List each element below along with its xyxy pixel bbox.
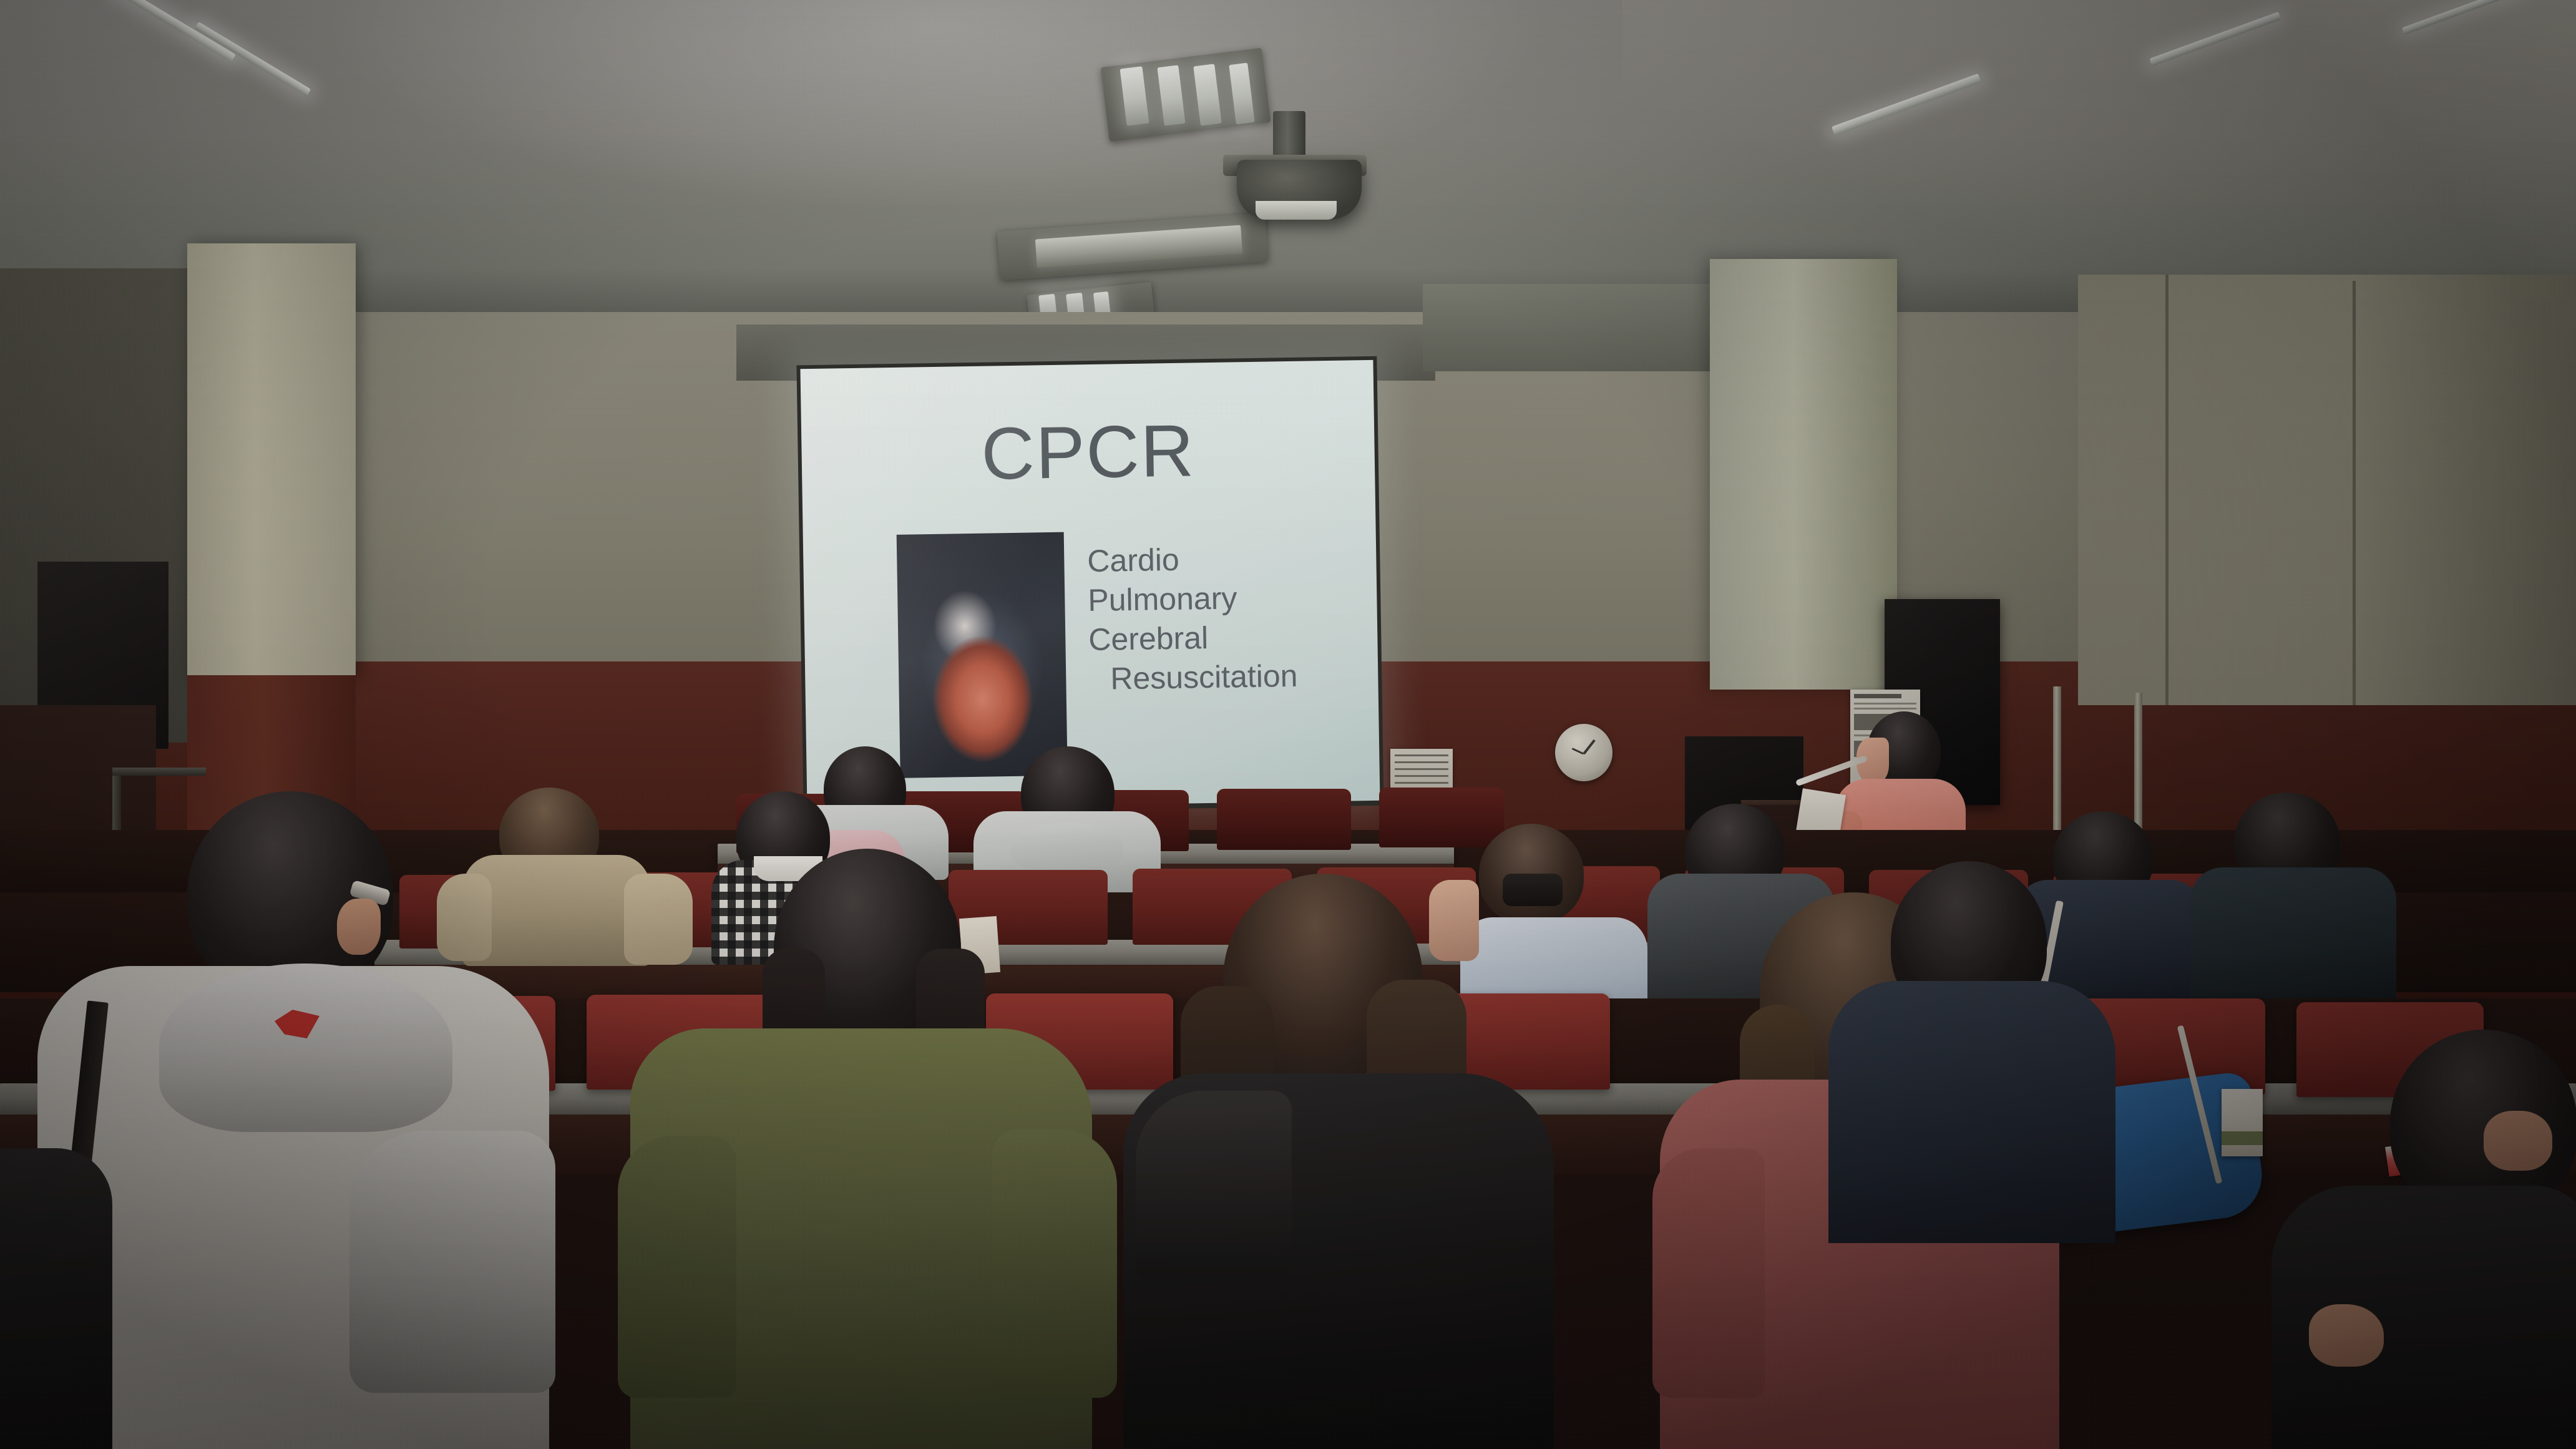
chair[interactable]	[1379, 788, 1504, 847]
ruffle-sleeve	[437, 874, 492, 961]
notice-line	[1395, 768, 1448, 770]
jacket-sleeve	[1652, 1148, 1765, 1398]
structural-column-left	[187, 243, 356, 680]
hair-clip	[1503, 874, 1563, 906]
hood-fold	[1011, 822, 1123, 871]
carton-band	[2222, 1131, 2263, 1145]
notice-line	[1395, 782, 1448, 784]
clock-hour-hand	[1583, 739, 1595, 755]
slide-subtitle-line-2: Pulmonary	[1088, 577, 1369, 620]
poster-line	[1854, 703, 1916, 705]
jacket-sleeve	[618, 1136, 736, 1398]
person-arm	[1429, 880, 1479, 961]
lecture-hall-photo: CPCR Cardio Pulmonary Cerebral Resuscita…	[0, 0, 2576, 1449]
soffit-right	[1423, 284, 1722, 371]
wall-seam-right-b	[2353, 281, 2356, 705]
person-torso-edge	[0, 1148, 112, 1449]
slide-subtitle-line-4: Resuscitation	[1089, 655, 1370, 699]
beverage-carton[interactable]	[2222, 1089, 2263, 1156]
structural-column-right	[1710, 259, 1897, 690]
notice-line	[1395, 754, 1448, 756]
projector-lens	[1256, 201, 1337, 220]
poster-line	[1854, 708, 1916, 710]
clock-minute-hand	[1572, 748, 1584, 754]
person-hand	[2309, 1304, 2384, 1367]
person-torso	[2190, 867, 2396, 1017]
projection-screen-frame: CPCR Cardio Pulmonary Cerebral Resuscita…	[796, 356, 1383, 815]
hoodie-sleeve	[349, 1131, 555, 1393]
poster-title-bar	[1854, 694, 1901, 698]
slide-subtitle-block: Cardio Pulmonary Cerebral Resuscitation	[1087, 537, 1370, 699]
slide-subtitle-line-1: Cardio	[1087, 537, 1368, 581]
person-hand-b	[2484, 1111, 2552, 1171]
person-ear	[337, 899, 381, 955]
notice-line	[1395, 761, 1448, 763]
equipment-frame-left-b	[112, 768, 206, 776]
slide-subtitle-line-3: Cerebral	[1088, 616, 1370, 660]
notice-line	[1395, 775, 1448, 777]
chair[interactable]	[1217, 789, 1351, 850]
jacket-sleeve	[992, 1129, 1117, 1398]
right-wall	[2078, 275, 2576, 705]
person-torso	[1828, 981, 2115, 1243]
wall-clock	[1555, 724, 1612, 781]
slide-title: CPCR	[801, 411, 1375, 494]
projection-screen: CPCR Cardio Pulmonary Cerebral Resuscita…	[800, 360, 1380, 809]
hoodie-hood	[159, 964, 452, 1132]
jacket-shoulder	[1136, 1091, 1292, 1278]
heart-image	[897, 532, 1068, 778]
wall-seam-right-a	[2165, 275, 2169, 705]
ruffle-sleeve	[624, 874, 693, 965]
